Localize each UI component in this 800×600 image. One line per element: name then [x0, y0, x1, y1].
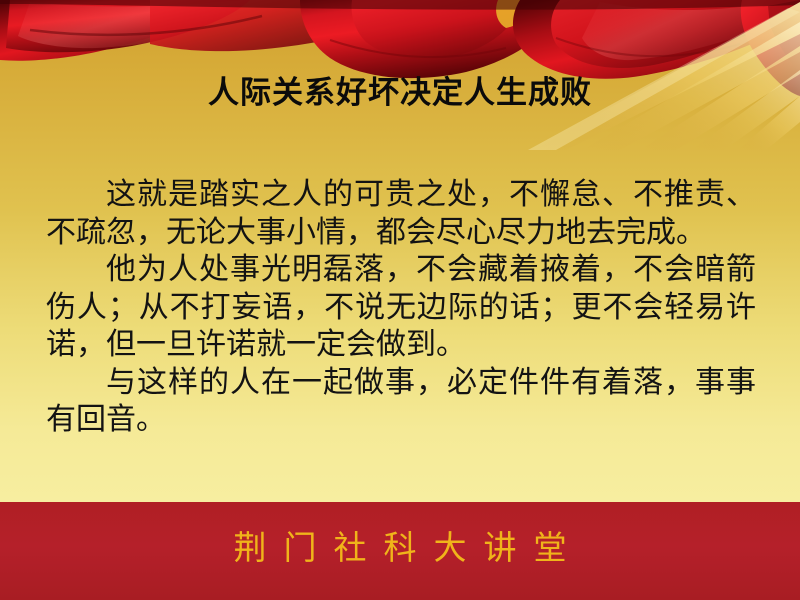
body-paragraph: 这就是踏实之人的可贵之处，不懈怠、不推责、不疏忽，无论大事小情，都会尽心尽力地去…: [46, 176, 756, 251]
page-title: 人际关系好坏决定人生成败: [0, 74, 800, 112]
footer-title: 荆门社科大讲堂: [0, 527, 800, 571]
presentation-slide: 人际关系好坏决定人生成败 这就是踏实之人的可贵之处，不懈怠、不推责、不疏忽，无论…: [0, 0, 800, 600]
body-paragraph: 他为人处事光明磊落，不会藏着掖着，不会暗箭伤人；从不打妄语，不说无边际的话；更不…: [46, 251, 756, 364]
slide-body-text: 这就是踏实之人的可贵之处，不懈怠、不推责、不疏忽，无论大事小情，都会尽心尽力地去…: [46, 176, 756, 439]
body-paragraph: 与这样的人在一起做事，必定件件有着落，事事有回音。: [46, 364, 756, 439]
